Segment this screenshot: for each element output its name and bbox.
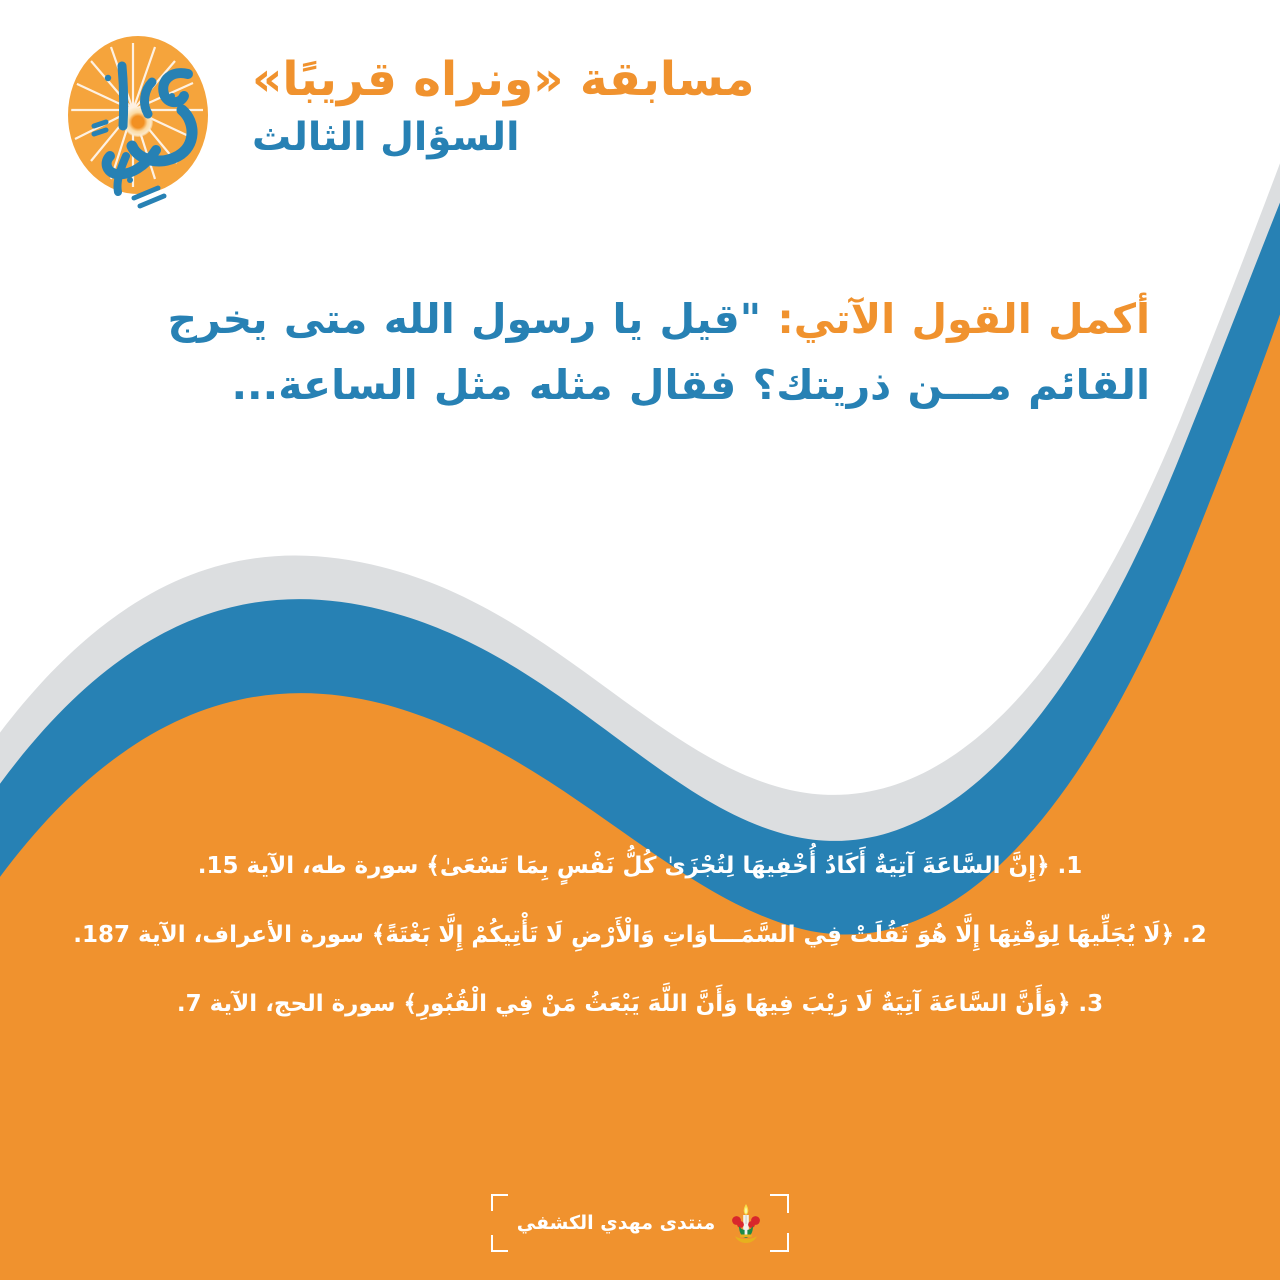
brand-logo — [60, 30, 220, 215]
poster-header: مسابقة «ونراه قريبًا» السؤال الثالث — [0, 0, 1280, 235]
question-prompt: أكمل القول الآتي: — [777, 295, 1150, 343]
question-block: أكمل القول الآتي: "قيل يا رسول الله متى … — [140, 286, 1150, 419]
scout-candle-emblem-icon — [729, 1202, 763, 1244]
poster-canvas: مسابقة «ونراه قريبًا» السؤال الثالث أكمل… — [0, 0, 1280, 1280]
logo-calligraphy-icon — [60, 30, 220, 215]
question-text: أكمل القول الآتي: "قيل يا رسول الله متى … — [140, 286, 1150, 419]
answer-options-list: 1. ﴿إِنَّ السَّاعَةَ آتِيَةٌ أَكَادُ أُخ… — [0, 845, 1280, 1025]
bracket-corner-icon — [491, 1235, 508, 1252]
poster-footer: منتدى مهدي الكشفي — [0, 1192, 1280, 1254]
contest-title: مسابقة «ونراه قريبًا» — [252, 54, 1240, 107]
footer-brand-name: منتدى مهدي الكشفي — [517, 1212, 716, 1234]
question-number-label: السؤال الثالث — [252, 113, 1240, 164]
answer-option-2[interactable]: 2. ﴿لَا يُجَلِّيهَا لِوَقْتِهَا إِلَّا ه… — [46, 914, 1234, 957]
bracket-corner-icon — [491, 1194, 508, 1211]
answer-option-1[interactable]: 1. ﴿إِنَّ السَّاعَةَ آتِيَةٌ أَكَادُ أُخ… — [46, 845, 1234, 888]
wave-orange — [0, 300, 1280, 1280]
header-titles: مسابقة «ونراه قريبًا» السؤال الثالث — [242, 26, 1240, 163]
answer-option-3[interactable]: 3. ﴿وَأَنَّ السَّاعَةَ آتِيَةٌ لَا رَيْب… — [46, 983, 1234, 1026]
footer-brand[interactable]: منتدى مهدي الكشفي — [491, 1192, 790, 1254]
